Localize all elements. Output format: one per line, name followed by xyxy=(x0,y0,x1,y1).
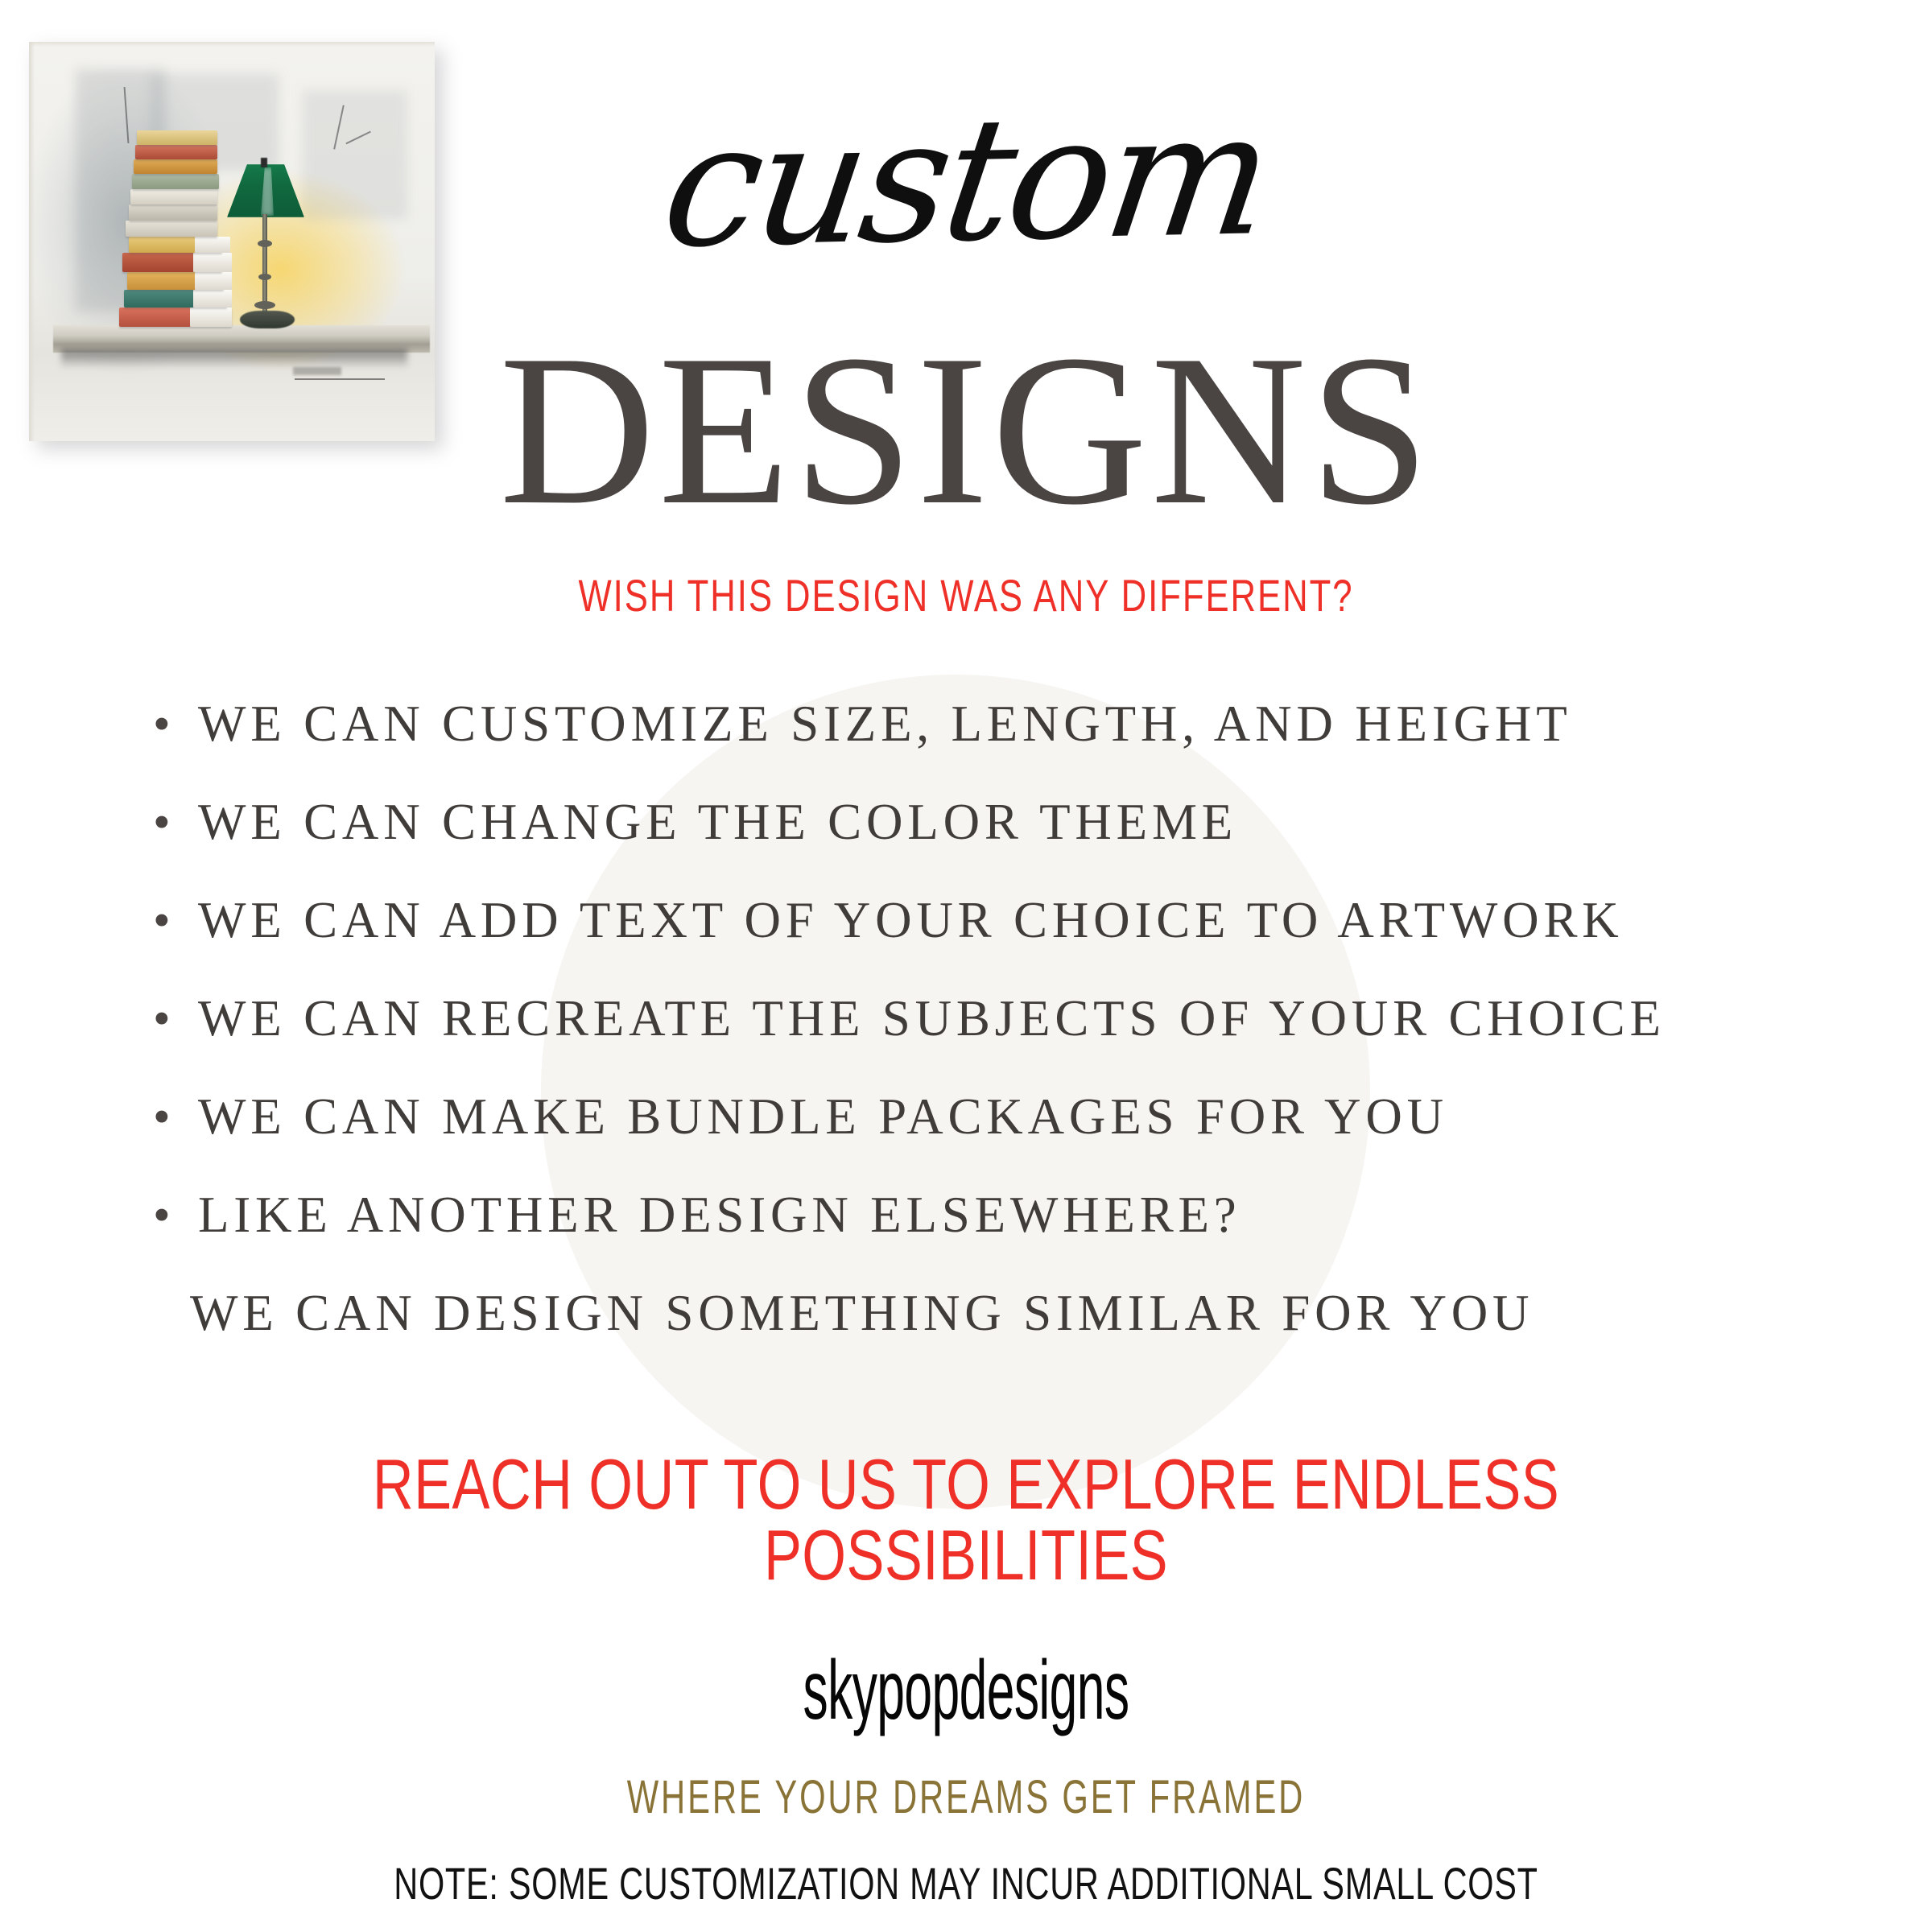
bullet-dot-icon: • xyxy=(153,1092,198,1142)
shelf-shadow xyxy=(61,349,407,369)
subtitle-question: WISH THIS DESIGN WAS ANY DIFFERENT? xyxy=(213,573,1719,618)
customization-options-list: • WE CAN CUSTOMIZE SIZE, LENGTH, AND HEI… xyxy=(153,699,1827,1386)
list-item: • LIKE ANOTHER DESIGN ELSEWHERE? xyxy=(153,1190,1827,1288)
list-item-label: WE CAN RECREATE THE SUBJECTS OF YOUR CHO… xyxy=(198,993,1666,1044)
bullet-dot-icon: • xyxy=(153,1191,198,1241)
continuation-label: WE CAN DESIGN SOMETHING SIMILAR FOR YOU xyxy=(190,1288,1534,1339)
list-item: • WE CAN CUSTOMIZE SIZE, LENGTH, AND HEI… xyxy=(153,699,1827,797)
list-item-label: WE CAN MAKE BUNDLE PACKAGES FOR YOU xyxy=(198,1092,1448,1142)
lamp-base xyxy=(240,311,295,328)
brand-tagline: WHERE YOUR DREAMS GET FRAMED xyxy=(270,1774,1662,1821)
list-item-label: WE CAN CHANGE THE COLOR THEME xyxy=(198,797,1237,848)
list-item-continuation: WE CAN DESIGN SOMETHING SIMILAR FOR YOU xyxy=(153,1288,1827,1386)
bullet-dot-icon: • xyxy=(153,994,198,1044)
bullet-dot-icon: • xyxy=(153,700,198,749)
poster-canvas: custom DESIGNS WISH THIS DESIGN WAS ANY … xyxy=(0,0,1932,1932)
brand-logo-text: skypopdesigns xyxy=(386,1649,1546,1732)
canvas-top-edge xyxy=(29,42,435,47)
list-item: • WE CAN RECREATE THE SUBJECTS OF YOUR C… xyxy=(153,993,1827,1092)
lamp-stem-knob xyxy=(254,301,275,309)
list-item: • WE CAN ADD TEXT OF YOUR CHOICE TO ARTW… xyxy=(153,895,1827,993)
bullet-dot-icon: • xyxy=(153,798,198,848)
list-item-label: WE CAN CUSTOMIZE SIZE, LENGTH, AND HEIGH… xyxy=(198,699,1572,749)
artist-signature xyxy=(293,367,341,375)
call-to-action-text: REACH OUT TO US TO EXPLORE ENDLESS POSSI… xyxy=(193,1449,1739,1591)
book-pages xyxy=(193,290,232,308)
bullet-dot-icon: • xyxy=(153,896,198,946)
list-item: • WE CAN CHANGE THE COLOR THEME xyxy=(153,797,1827,895)
signature-underline xyxy=(295,378,385,380)
book-pages xyxy=(190,308,232,327)
list-item: • WE CAN MAKE BUNDLE PACKAGES FOR YOU xyxy=(153,1092,1827,1190)
disclaimer-note: NOTE: SOME CUSTOMIZATION MAY INCUR ADDIT… xyxy=(251,1861,1681,1906)
shelf-surface xyxy=(53,325,430,353)
list-item-label: LIKE ANOTHER DESIGN ELSEWHERE? xyxy=(198,1190,1241,1241)
list-item-label: WE CAN ADD TEXT OF YOUR CHOICE TO ARTWOR… xyxy=(198,895,1624,946)
